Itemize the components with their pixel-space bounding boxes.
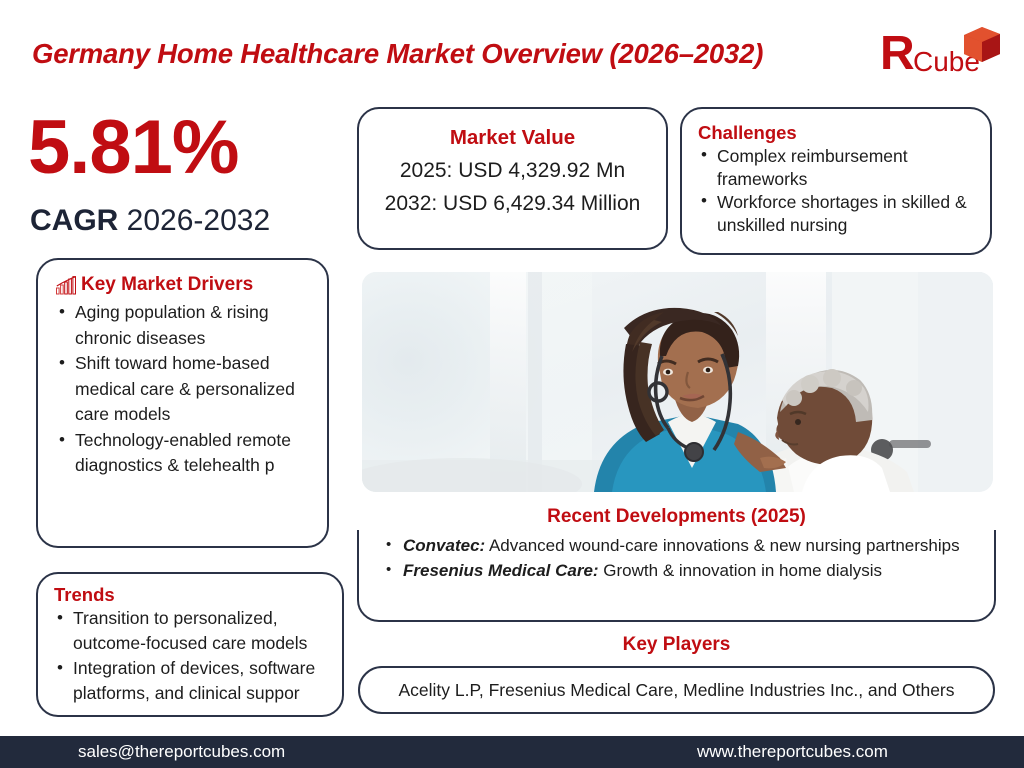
footer-email[interactable]: sales@thereportcubes.com	[78, 742, 285, 762]
cagr-label-bold: CAGR	[30, 204, 118, 237]
challenges-card: Challenges Complex reimbursement framewo…	[680, 107, 992, 255]
drivers-list: Aging population & rising chronic diseas…	[56, 300, 317, 479]
trends-list: Transition to personalized, outcome-focu…	[54, 606, 334, 706]
footer-website[interactable]: www.thereportcubes.com	[697, 742, 888, 762]
list-item: Technology-enabled remote diagnostics & …	[56, 428, 317, 479]
cagr-label-years: 2026-2032	[118, 204, 270, 237]
list-item: Workforce shortages in skilled & unskill…	[698, 191, 978, 236]
list-item: Complex reimbursement frameworks	[698, 145, 978, 190]
bar-chart-icon	[56, 276, 77, 295]
key-market-drivers-title: Key Market Drivers	[81, 274, 253, 296]
key-players-card: Acelity L.P, Fresenius Medical Care, Med…	[358, 666, 995, 714]
key-players-title: Key Players	[357, 634, 996, 656]
company-detail: Advanced wound-care innovations & new nu…	[485, 536, 959, 555]
brand-logo: Я Cube	[880, 26, 1002, 84]
market-value-title: Market Value	[359, 126, 666, 150]
recent-developments-list: Convatec: Advanced wound-care innovation…	[377, 534, 980, 582]
logo-reversed-r-icon: Я	[880, 30, 915, 78]
page-title: Germany Home Healthcare Market Overview …	[32, 38, 763, 70]
list-item: Integration of devices, software platfor…	[54, 656, 334, 706]
company-detail: Growth & innovation in home dialysis	[599, 561, 882, 580]
footer-bar: sales@thereportcubes.com www.thereportcu…	[0, 736, 1024, 768]
challenges-title: Challenges	[698, 122, 978, 144]
list-item: Transition to personalized, outcome-focu…	[54, 606, 334, 656]
company-name: Convatec:	[403, 536, 485, 555]
recent-developments-title: Recent Developments (2025)	[357, 505, 996, 530]
list-item: Convatec: Advanced wound-care innovation…	[377, 534, 980, 557]
market-value-card: Market Value 2025: USD 4,329.92 Mn 2032:…	[357, 107, 668, 250]
key-market-drivers-card: Key Market Drivers Aging population & ri…	[36, 258, 329, 548]
list-item: Fresenius Medical Care: Growth & innovat…	[377, 559, 980, 582]
list-item: Shift toward home-based medical care & p…	[56, 351, 317, 428]
infographic-page: Germany Home Healthcare Market Overview …	[0, 0, 1024, 768]
company-name: Fresenius Medical Care:	[403, 561, 599, 580]
trends-card: Trends Transition to personalized, outco…	[36, 572, 344, 717]
drivers-title-row: Key Market Drivers	[56, 274, 317, 296]
market-value-2025: 2025: USD 4,329.92 Mn	[359, 159, 666, 183]
trends-title: Trends	[54, 584, 334, 606]
nurse-patient-illustration	[362, 272, 993, 492]
hero-photo	[362, 272, 993, 492]
challenges-list: Complex reimbursement frameworks Workfor…	[698, 145, 978, 236]
list-item: Aging population & rising chronic diseas…	[56, 300, 317, 351]
market-value-2032: 2032: USD 6,429.34 Million	[359, 192, 666, 216]
cagr-value: 5.81%	[28, 110, 239, 186]
cagr-label: CAGR 2026-2032	[30, 206, 270, 236]
key-players-text: Acelity L.P, Fresenius Medical Care, Med…	[398, 680, 954, 701]
cube-icon	[962, 26, 1002, 68]
